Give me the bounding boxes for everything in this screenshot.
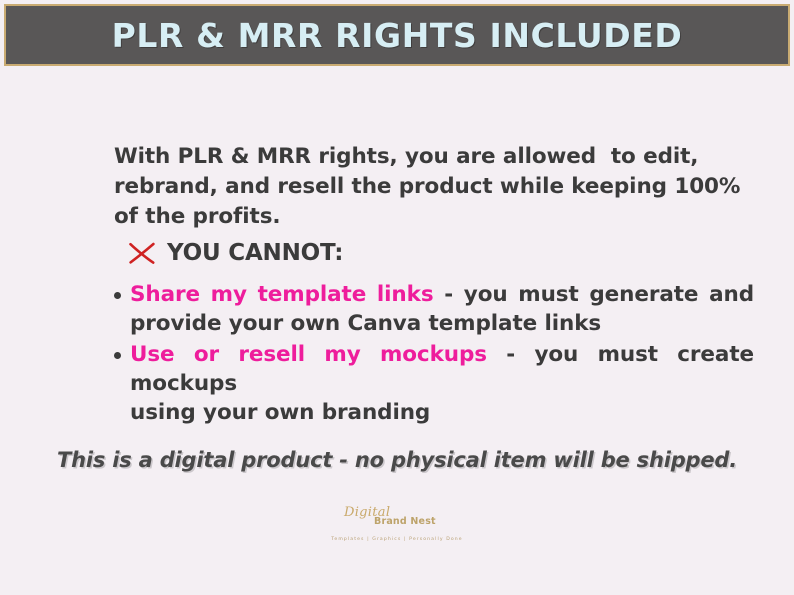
list-item-highlight: Use or resell my mockups [130, 342, 487, 367]
list-item: Share my template links - you must gener… [114, 280, 754, 338]
you-cannot-label: YOU CANNOT: [167, 240, 343, 266]
list-item-rest-line2: provide your own Canva template links [130, 309, 754, 338]
brand-logo: Digital Brand Nest Templates | Graphics … [0, 506, 794, 543]
bullet-dot-icon [114, 292, 121, 299]
list-item-text: Use or resell my mockups - you must crea… [130, 340, 754, 427]
list-item-highlight: Share my template links [130, 282, 434, 307]
list-item-separator: - [434, 282, 464, 307]
red-x-mark-icon [126, 237, 158, 269]
logo-wordmark: Digital Brand Nest [338, 506, 456, 530]
restrictions-list: Share my template links - you must gener… [114, 280, 754, 429]
intro-paragraph: With PLR & MRR rights, you are allowed t… [114, 142, 744, 232]
you-cannot-heading: YOU CANNOT: [126, 237, 343, 269]
list-item-rest-line2: using your own branding [130, 398, 754, 427]
content-area: With PLR & MRR rights, you are allowed t… [0, 68, 794, 595]
list-item-text: Share my template links - you must gener… [130, 280, 754, 338]
list-item: Use or resell my mockups - you must crea… [114, 340, 754, 427]
logo-bold-word: Brand Nest [374, 517, 436, 527]
header-banner: PLR & MRR RIGHTS INCLUDED [4, 4, 790, 66]
list-item-rest-line1: you must generate and [464, 282, 754, 307]
bullet-dot-icon [114, 352, 121, 359]
digital-product-note: This is a digital product - no physical … [0, 448, 794, 472]
list-item-separator: - [487, 342, 534, 367]
logo-tagline: Templates | Graphics | Personally Done [0, 538, 794, 543]
page-title: PLR & MRR RIGHTS INCLUDED [112, 16, 683, 55]
